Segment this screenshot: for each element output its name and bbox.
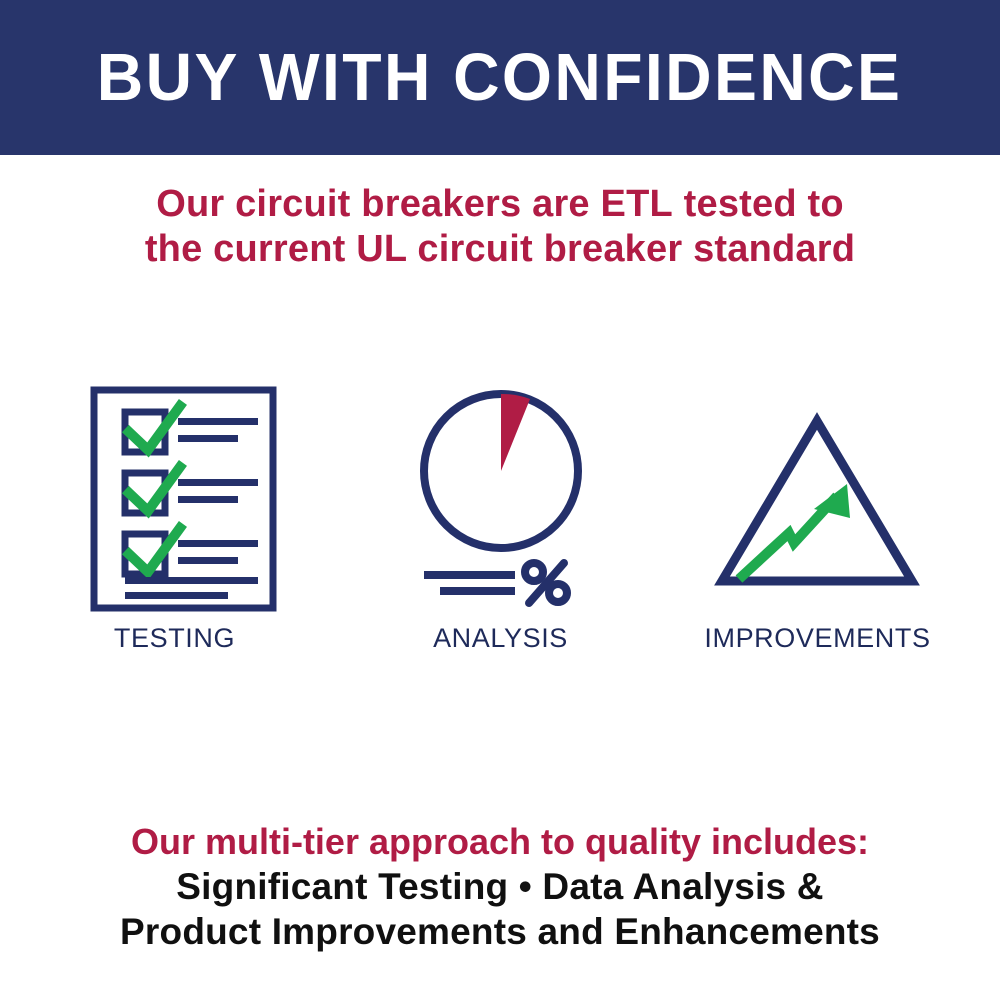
triangle-growth-arrow-icon — [651, 375, 984, 620]
footer-body-line-1: Significant Testing • Data Analysis & — [0, 864, 1000, 909]
subtitle-etl-emphasis: ETL — [601, 183, 673, 225]
subtitle-line-2: the current UL circuit breaker standard — [0, 227, 1000, 272]
header-banner: BUY WITH CONFIDENCE — [0, 0, 1000, 155]
subtitle-line-2-pre: the current — [145, 228, 356, 270]
subtitle-line-1-post: tested to — [673, 183, 844, 225]
feature-label-analysis: ANALYSIS — [334, 623, 667, 654]
subtitle-line-1-pre: Our circuit breakers are — [156, 183, 600, 225]
subtitle-ul-emphasis: UL circuit breaker standard — [356, 228, 855, 270]
footer-body-line-2: Product Improvements and Enhancements — [0, 909, 1000, 954]
footer-lead-line: Our multi-tier approach to quality inclu… — [0, 820, 1000, 864]
feature-item-improvements: IMPROVEMENTS — [651, 375, 984, 695]
footer-text-block: Our multi-tier approach to quality inclu… — [0, 820, 1000, 954]
page-title: BUY WITH CONFIDENCE — [97, 44, 903, 111]
feature-label-testing: TESTING — [8, 623, 341, 654]
checklist-document-icon — [8, 375, 341, 620]
subtitle-line-1: Our circuit breakers are ETL tested to — [0, 182, 1000, 227]
feature-icon-row: TESTING ANALYSIS — [0, 375, 1000, 695]
pie-chart-percent-icon — [334, 375, 667, 620]
feature-item-analysis: ANALYSIS — [334, 375, 667, 695]
subtitle-block: Our circuit breakers are ETL tested to t… — [0, 182, 1000, 272]
feature-item-testing: TESTING — [8, 375, 341, 695]
feature-label-improvements: IMPROVEMENTS — [651, 623, 984, 654]
